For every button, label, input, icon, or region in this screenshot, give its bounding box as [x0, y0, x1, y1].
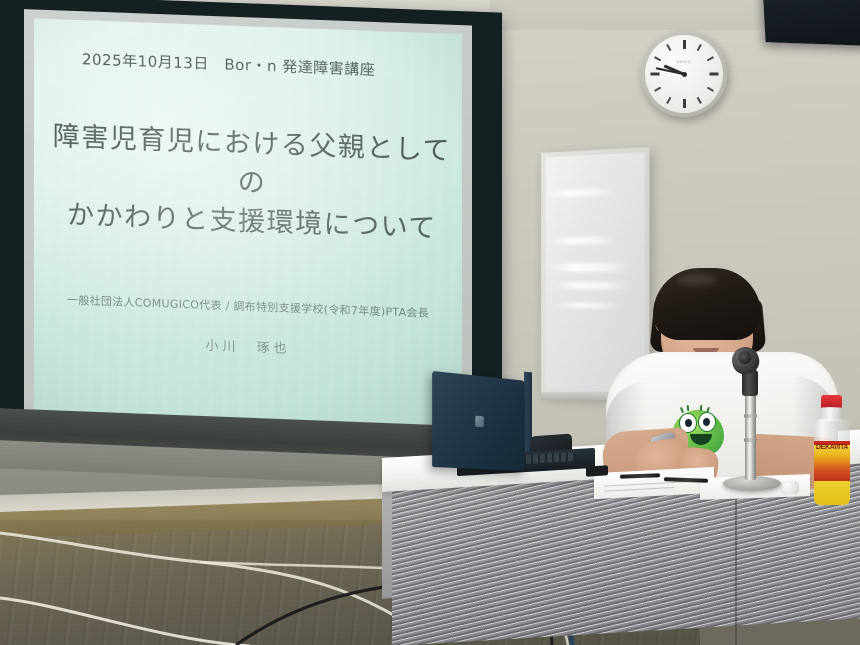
caterpillar-lash: [687, 405, 690, 411]
clock-tick: [666, 44, 671, 51]
clock-tick: [666, 97, 671, 104]
bottle-body: DEKAVITA: [814, 419, 850, 505]
bottle-label: DEKAVITA: [814, 441, 850, 481]
whiteboard-surface: [546, 152, 645, 393]
microphone-stem: [745, 392, 756, 480]
clock-tick: [707, 87, 714, 92]
clock-tick: [650, 73, 659, 76]
desk-panel-seam: [735, 495, 737, 645]
wall-clock: SEIKO: [641, 31, 727, 117]
slide-affiliation: 一般社団法人COMUGICO代表 / 調布特別支援学校(令和7年度)PTA会長: [34, 290, 462, 322]
projected-slide: 2025年10月13日 Bor・n 発達障害講座 障害児育児における父親としての…: [34, 18, 462, 434]
slide-title: 障害児育児における父親としての かかわりと支援環境について: [52, 117, 452, 249]
laptop-lid[interactable]: [432, 371, 525, 471]
slide-presenter-name: 小川 琢也: [34, 328, 462, 363]
clock-tick: [683, 99, 686, 108]
clock-tick: [709, 73, 718, 76]
caterpillar-lash: [680, 407, 684, 413]
whiteboard-glare: [546, 188, 617, 198]
clock-tick: [683, 40, 686, 49]
clock-tick: [697, 44, 702, 51]
laptop-logo-icon: [475, 416, 484, 428]
desk-small-object[interactable]: [586, 465, 608, 477]
whiteboard-glare: [551, 282, 628, 289]
slide-header: 2025年10月13日 Bor・n 発達障害講座: [82, 48, 375, 80]
lecture-room-photo: 2025年10月13日 Bor・n 発達障害講座 障害児育児における父親としての…: [0, 0, 860, 645]
clock-tick: [654, 56, 661, 61]
whiteboard-glare: [546, 263, 631, 272]
paper-line: [604, 487, 674, 492]
paper-line: [604, 481, 690, 487]
hair: [653, 268, 761, 340]
hair-highlight: [677, 274, 717, 286]
vitamin-drink-bottle[interactable]: DEKAVITA: [812, 395, 852, 505]
projection-screen: 2025年10月13日 Bor・n 発達障害講座 障害児育児における父親としての…: [0, 0, 502, 465]
caterpillar-pupil-right: [703, 418, 710, 426]
clock-center-pin: [682, 72, 687, 77]
wall-mounted-display: [763, 0, 860, 46]
clock-face: SEIKO: [645, 35, 723, 113]
slide-title-line-1: 障害児育児における父親としての: [53, 121, 451, 199]
microphone-ring: [744, 414, 757, 418]
clock-tick: [654, 87, 661, 92]
eraser[interactable]: [780, 481, 799, 494]
slide-title-line-2: かかわりと支援環境について: [52, 195, 452, 249]
whiteboard-glare: [555, 302, 618, 308]
projection-screen-border: 2025年10月13日 Bor・n 発達障害講座 障害児育児における父親としての…: [24, 9, 472, 443]
caterpillar-eye-right: [698, 412, 716, 432]
clock-tick: [707, 56, 714, 61]
caterpillar-pupil-left: [685, 419, 692, 427]
microphone-ring: [744, 438, 757, 442]
clock-brand-label: SEIKO: [677, 59, 691, 64]
whiteboard-glare: [548, 237, 617, 245]
bottle-label-text: DEKAVITA: [814, 444, 850, 451]
microphone-capsule: [737, 350, 753, 366]
clock-tick: [697, 97, 702, 104]
